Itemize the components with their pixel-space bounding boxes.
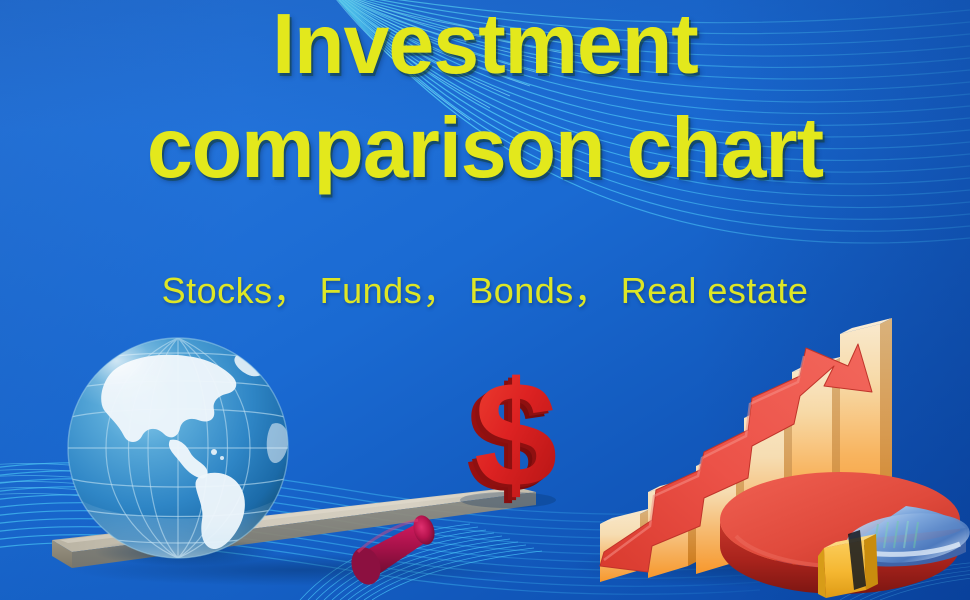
pie-chart [720,472,970,598]
poster-subtitle: Stocks， Funds， Bonds， Real estate [0,262,970,314]
poster-canvas: $ $ $ [0,0,970,600]
dollar-sign: $ $ $ [460,350,557,524]
title-line-2: comparison chart [15,108,956,190]
title-line-1: Investment [15,4,956,86]
svg-text:$: $ [474,350,557,518]
poster-title: Investment comparison chart [0,4,970,189]
